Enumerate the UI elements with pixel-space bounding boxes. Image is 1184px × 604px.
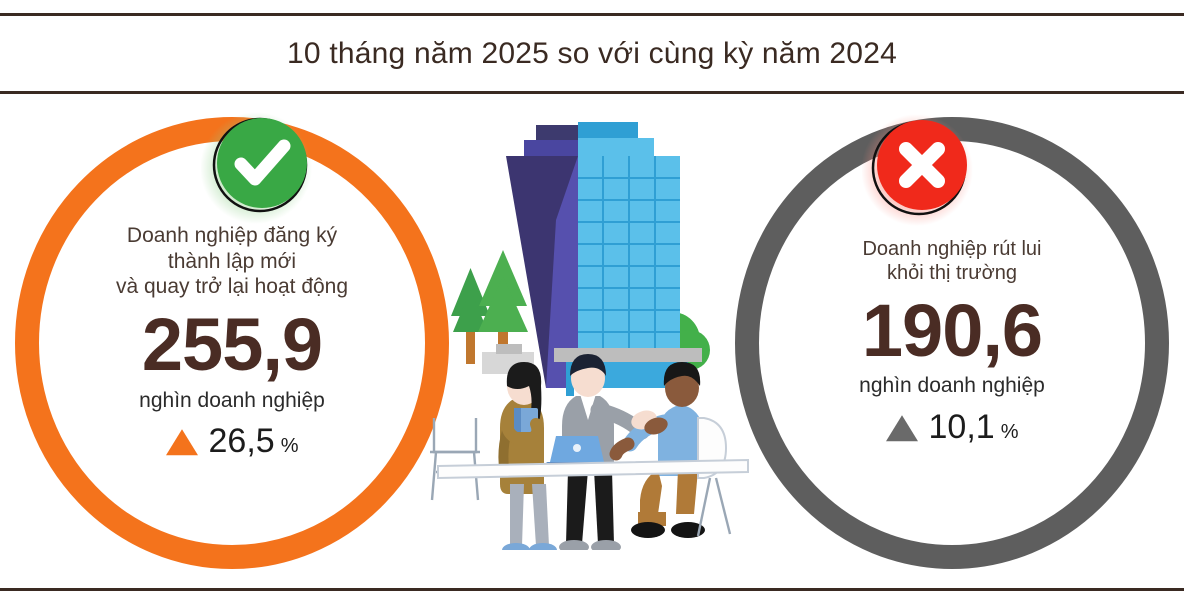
divider-under-title xyxy=(0,91,1184,94)
cross-badge-icon xyxy=(862,108,980,226)
percent-sign-left: % xyxy=(281,434,299,462)
stat-delta-value-right: 10,1 xyxy=(929,407,995,448)
divider-bottom xyxy=(0,588,1184,591)
business-illustration xyxy=(428,100,758,550)
stat-value-left: 255,9 xyxy=(67,306,397,384)
empty-chair xyxy=(430,418,480,500)
stat-unit-right: nghìn doanh nghiệp xyxy=(787,374,1117,400)
stat-delta-left: 26,5 % xyxy=(67,421,397,462)
stat-caption-left: Doanh nghiệp đăng ký thành lập mới và qu… xyxy=(67,223,397,300)
percent-sign-right: % xyxy=(1001,420,1019,448)
title-band: 10 tháng năm 2025 so với cùng kỳ năm 202… xyxy=(0,16,1184,91)
stat-content-right: Doanh nghiệp rút lui khỏi thị trường 190… xyxy=(787,237,1117,449)
check-badge-icon xyxy=(201,106,319,224)
triangle-up-icon xyxy=(166,429,198,455)
stat-caption-right: Doanh nghiệp rút lui khỏi thị trường xyxy=(787,237,1117,286)
page-title: 10 tháng năm 2025 so với cùng kỳ năm 202… xyxy=(287,37,897,71)
man-seated-handshake xyxy=(616,362,730,538)
stat-unit-left: nghìn doanh nghiệp xyxy=(67,388,397,414)
stat-value-right: 190,6 xyxy=(787,292,1117,370)
triangle-up-icon xyxy=(886,415,918,441)
woman-with-folder xyxy=(498,362,557,550)
infographic-root: 10 tháng năm 2025 so với cùng kỳ năm 202… xyxy=(0,0,1184,604)
stat-content-left: Doanh nghiệp đăng ký thành lập mới và qu… xyxy=(67,223,397,463)
stat-delta-right: 10,1 % xyxy=(787,407,1117,448)
stat-delta-value-left: 26,5 xyxy=(209,421,275,462)
